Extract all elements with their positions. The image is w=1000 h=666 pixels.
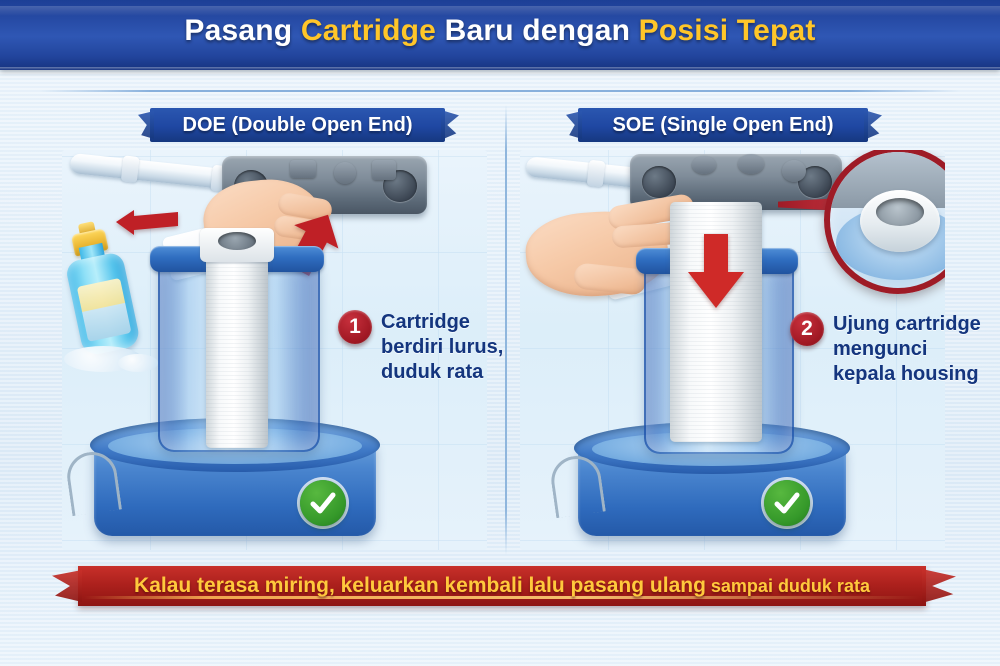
- callout-2-line-1: Ujung cartridge: [833, 312, 981, 337]
- housing-boss-icon: [782, 160, 806, 182]
- page-title-highlight-cartridge: Cartridge: [301, 14, 436, 47]
- panel-header-soe: SOE (Single Open End): [578, 108, 868, 142]
- cartridge-center-hole-icon: [218, 232, 256, 250]
- housing-boss-icon: [692, 156, 716, 174]
- inset-cartridge-hole-icon: [876, 198, 924, 226]
- callout-2-text: Ujung cartridge mengunci kepala housing: [833, 312, 981, 387]
- warning-text-tail: sampai duduk rata: [706, 576, 870, 596]
- callout-1-line-3: duduk rata: [381, 360, 503, 385]
- red-arrow-left-icon: [114, 206, 180, 236]
- infographic-canvas: Pasang Cartridge Baru dengan Posisi Tepa…: [0, 0, 1000, 666]
- warning-text-main: Kalau terasa miring, keluarkan kembali l…: [134, 574, 706, 597]
- panel-header-soe-label: SOE (Single Open End): [612, 114, 833, 137]
- page-title-highlight-posisi-tepat: Posisi Tepat: [639, 14, 816, 47]
- callout-1-line-2: berdiri lurus,: [381, 335, 503, 360]
- green-check-icon: [764, 480, 810, 526]
- callout-2-line-2: mengunci: [833, 337, 981, 362]
- panel-divider: [505, 105, 507, 555]
- callout-1: 1 Cartridge berdiri lurus, duduk rata: [338, 310, 503, 385]
- housing-boss-icon: [372, 160, 396, 180]
- callout-2-badge: 2: [790, 312, 824, 346]
- cartridge-texture: [206, 236, 268, 448]
- page-title: Pasang Cartridge Baru dengan Posisi Tepa…: [0, 14, 1000, 48]
- housing-boss-icon: [738, 154, 764, 174]
- callout-1-badge: 1: [338, 310, 372, 344]
- warning-banner: Kalau terasa miring, keluarkan kembali l…: [78, 566, 926, 606]
- page-title-lead: Pasang: [184, 14, 300, 47]
- header-underline: [40, 90, 960, 92]
- warning-text: Kalau terasa miring, keluarkan kembali l…: [134, 574, 870, 598]
- pipe-collar-icon: [121, 155, 140, 183]
- callout-1-text: Cartridge berdiri lurus, duduk rata: [381, 310, 503, 385]
- callout-1-line-1: Cartridge: [381, 310, 503, 335]
- page-title-middle: Baru dengan: [436, 14, 639, 47]
- callout-2-line-3: kepala housing: [833, 362, 981, 387]
- panel-header-doe: DOE (Double Open End): [150, 108, 445, 142]
- red-arrow-down-icon: [684, 232, 748, 310]
- white-cartridge-icon: [206, 236, 268, 448]
- callout-2: 2 Ujung cartridge mengunci kepala housin…: [790, 312, 981, 387]
- green-check-icon: [300, 480, 346, 526]
- panel-header-doe-label: DOE (Double Open End): [183, 114, 413, 137]
- soap-suds-icon: [118, 354, 158, 372]
